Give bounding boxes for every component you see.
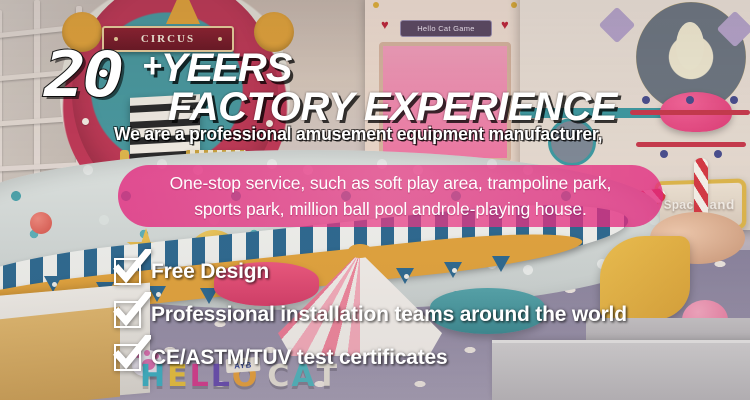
service-line-2: sports park, million ball pool androle-p…: [194, 196, 587, 222]
plus-symbol: +: [142, 47, 161, 85]
checkbox-checked-icon: [114, 301, 141, 328]
years-number: 20: [44, 44, 121, 106]
promo-banner: CIRCUS Hello Cat Game ♥ ♥: [0, 0, 750, 400]
feature-item-certificates: CE/ASTM/TUV test certificates: [114, 336, 627, 379]
subtitle-text: We are a professional amusement equipmen…: [114, 123, 602, 145]
feature-item-installation: Professional installation teams around t…: [114, 293, 627, 336]
text-overlay: 20 +YEERS FACTORY EXPERIENCE We are a pr…: [0, 0, 750, 400]
headline-group: 20 +YEERS FACTORY EXPERIENCE: [0, 20, 750, 120]
pink-service-banner: One-stop service, such as soft play area…: [118, 165, 663, 227]
feature-label: Professional installation teams around t…: [151, 303, 627, 327]
feature-label: CE/ASTM/TUV test certificates: [151, 346, 447, 370]
service-line-1: One-stop service, such as soft play area…: [170, 170, 612, 196]
feature-item-free-design: Free Design: [114, 250, 627, 293]
feature-list: Free Design Professional installation te…: [114, 250, 627, 379]
feature-label: Free Design: [151, 260, 269, 284]
checkbox-checked-icon: [114, 258, 141, 285]
checkbox-checked-icon: [114, 344, 141, 371]
